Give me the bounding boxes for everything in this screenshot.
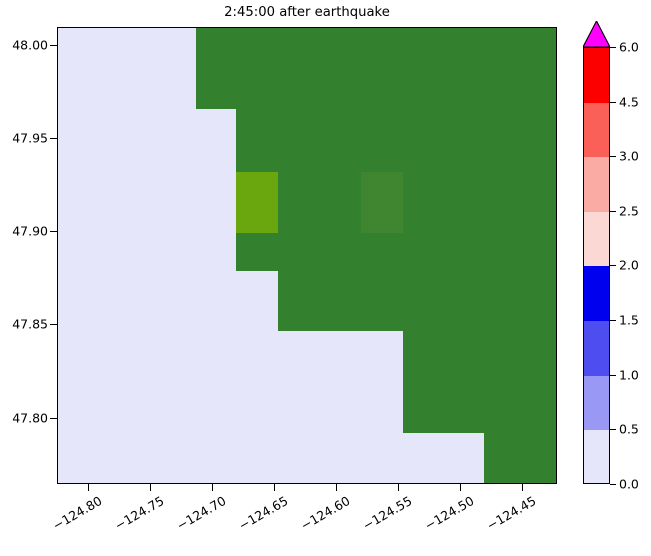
ytick-label-47-80: 47.80 — [0, 411, 48, 426]
faint-inundation-cell — [361, 172, 403, 233]
colorbar[interactable] — [583, 47, 610, 484]
colorbar-tick-label-1-5: 1.5 — [619, 313, 639, 328]
ytick-label-47-95: 47.95 — [0, 131, 48, 146]
colorbar-tick-mark-4-5 — [610, 102, 616, 103]
colorbar-tick-mark-6-0 — [610, 47, 616, 48]
bright-inundation-cell — [236, 172, 278, 233]
xtick-mark-3 — [274, 484, 275, 491]
colorbar-tick-label-0-5: 0.5 — [619, 422, 639, 437]
land-region-block-1 — [196, 28, 557, 109]
colorbar-segment-2-5-to-3-0 — [584, 157, 609, 212]
colorbar-tick-label-2-0: 2.0 — [619, 258, 639, 273]
land-region-block-3 — [278, 271, 557, 331]
figure-canvas: 2:45:00 after earthquake 48.00 47.95 47.… — [0, 0, 651, 540]
land-region-block-4 — [403, 331, 557, 433]
land-region-block-5 — [484, 433, 557, 484]
colorbar-segment-0-0-to-0-5 — [584, 430, 609, 484]
colorbar-tick-label-6-0: 6.0 — [619, 40, 639, 55]
colorbar-segment-1-0-to-1-5 — [584, 321, 609, 376]
ytick-mark-47-95 — [50, 138, 57, 139]
ytick-label-48-00: 48.00 — [0, 38, 48, 53]
ytick-mark-47-85 — [50, 324, 57, 325]
ytick-mark-48-00 — [50, 45, 57, 46]
colorbar-extend-arrow-icon — [583, 21, 610, 47]
colorbar-tick-label-2-5: 2.5 — [619, 203, 639, 218]
colorbar-tick-label-3-0: 3.0 — [619, 149, 639, 164]
colorbar-tick-label-4-5: 4.5 — [619, 94, 639, 109]
colorbar-segment-0-5-to-1-0 — [584, 376, 609, 431]
xtick-mark-7 — [522, 484, 523, 491]
ytick-label-47-85: 47.85 — [0, 317, 48, 332]
colorbar-tick-label-1-0: 1.0 — [619, 367, 639, 382]
colorbar-segment-1-5-to-2-0 — [584, 266, 609, 321]
ytick-label-47-90: 47.90 — [0, 224, 48, 239]
colorbar-tick-label-0-0: 0.0 — [619, 477, 639, 492]
ytick-mark-47-80 — [50, 418, 57, 419]
colorbar-tick-mark-1-5 — [610, 320, 616, 321]
heatmap-axes[interactable] — [57, 27, 557, 484]
xtick-mark-6 — [460, 484, 461, 491]
xtick-mark-1 — [150, 484, 151, 491]
colorbar-tick-mark-0-5 — [610, 429, 616, 430]
colorbar-tick-mark-2-0 — [610, 265, 616, 266]
colorbar-tick-mark-0-0 — [610, 484, 616, 485]
xtick-mark-0 — [88, 484, 89, 491]
colorbar-segment-2-0-to-2-5 — [584, 212, 609, 267]
colorbar-segment-3-0-to-4-5 — [584, 103, 609, 158]
colorbar-segment-4-5-to-6-0 — [584, 48, 609, 103]
xtick-mark-5 — [398, 484, 399, 491]
heatmap-grid — [58, 28, 556, 483]
ytick-mark-47-90 — [50, 231, 57, 232]
colorbar-tick-mark-1-0 — [610, 375, 616, 376]
colorbar-tick-mark-3-0 — [610, 156, 616, 157]
page-title: 2:45:00 after earthquake — [57, 5, 557, 20]
xtick-mark-2 — [212, 484, 213, 491]
colorbar-tick-mark-2-5 — [610, 211, 616, 212]
xtick-mark-4 — [336, 484, 337, 491]
